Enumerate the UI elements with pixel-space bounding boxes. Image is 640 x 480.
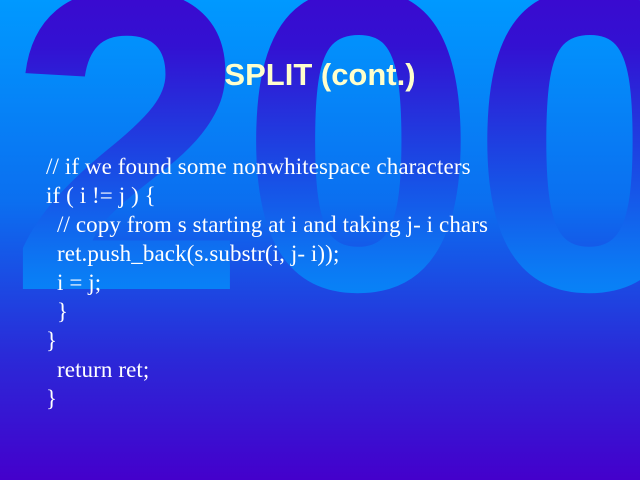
code-line: if ( i != j ) { xyxy=(46,181,626,210)
code-line: } xyxy=(46,326,626,355)
code-line: i = j; xyxy=(46,268,626,297)
code-line: } xyxy=(46,297,626,326)
code-line: } xyxy=(46,384,626,413)
code-line: ret.push_back(s.substr(i, j- i)); xyxy=(46,239,626,268)
page-title: SPLIT (cont.) xyxy=(0,57,640,93)
code-line: // copy from s starting at i and taking … xyxy=(46,210,626,239)
code-body: // if we found some nonwhitespace charac… xyxy=(46,152,626,413)
slide: 2001 SPLIT (cont.) // if we found some n… xyxy=(0,0,640,480)
code-line: return ret; xyxy=(46,355,626,384)
code-line: // if we found some nonwhitespace charac… xyxy=(46,152,626,181)
